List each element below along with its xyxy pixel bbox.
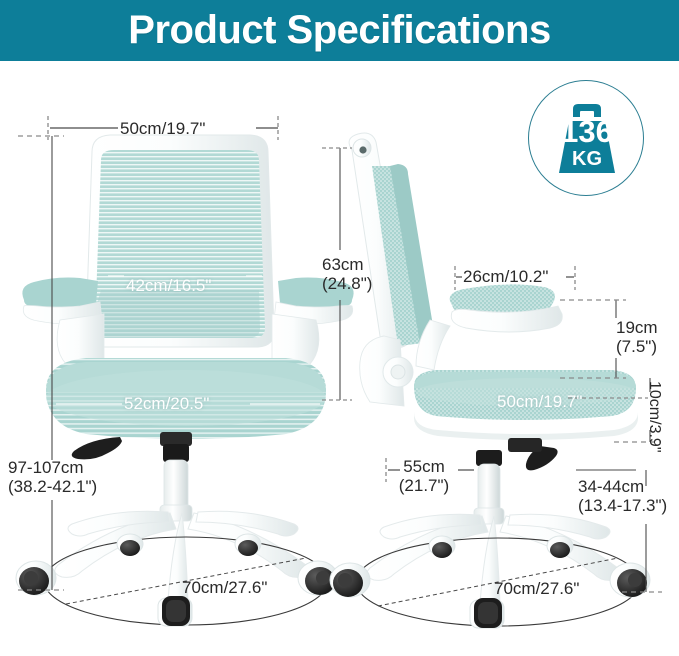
weight-value: 136 [529, 116, 645, 147]
label-backrest-height-cm: 63cm [322, 256, 372, 275]
label-seat-height-in: (13.4-17.3") [578, 497, 667, 516]
label-armrest-to-seat: 10cm/3.9" [645, 381, 663, 453]
weight-unit: KG [529, 149, 645, 169]
label-seat-width: 52cm/20.5" [124, 394, 209, 413]
label-seat-height: 34-44cm (13.4-17.3") [578, 478, 667, 515]
label-seat-depth: 50cm/19.7" [497, 392, 582, 411]
label-armrest-height: 19cm (7.5") [616, 319, 658, 356]
label-base-depth: 55cm (21.7") [388, 458, 460, 495]
label-base-diameter-side: 70cm/27.6" [494, 579, 579, 598]
label-backrest-height: 63cm (24.8") [322, 256, 372, 293]
label-backrest-width-outer: 50cm/19.7" [120, 119, 205, 138]
label-backrest-height-in: (24.8") [322, 275, 372, 294]
label-overall-height-cm: 97-107cm [8, 459, 97, 478]
label-seat-height-cm: 34-44cm [578, 478, 667, 497]
label-base-diameter-front: 70cm/27.6" [182, 578, 267, 597]
label-armrest-height-cm: 19cm [616, 319, 658, 338]
label-base-depth-in: (21.7") [388, 477, 460, 496]
label-overall-height: 97-107cm (38.2-42.1") [8, 459, 97, 496]
label-armrest-length: 26cm/10.2" [463, 267, 548, 286]
label-base-depth-cm: 55cm [388, 458, 460, 477]
label-backrest-width-inner: 42cm/16.5" [126, 276, 211, 295]
weight-capacity-badge: 136 KG [528, 80, 644, 196]
label-armrest-height-in: (7.5") [616, 338, 658, 357]
label-overall-height-in: (38.2-42.1") [8, 478, 97, 497]
